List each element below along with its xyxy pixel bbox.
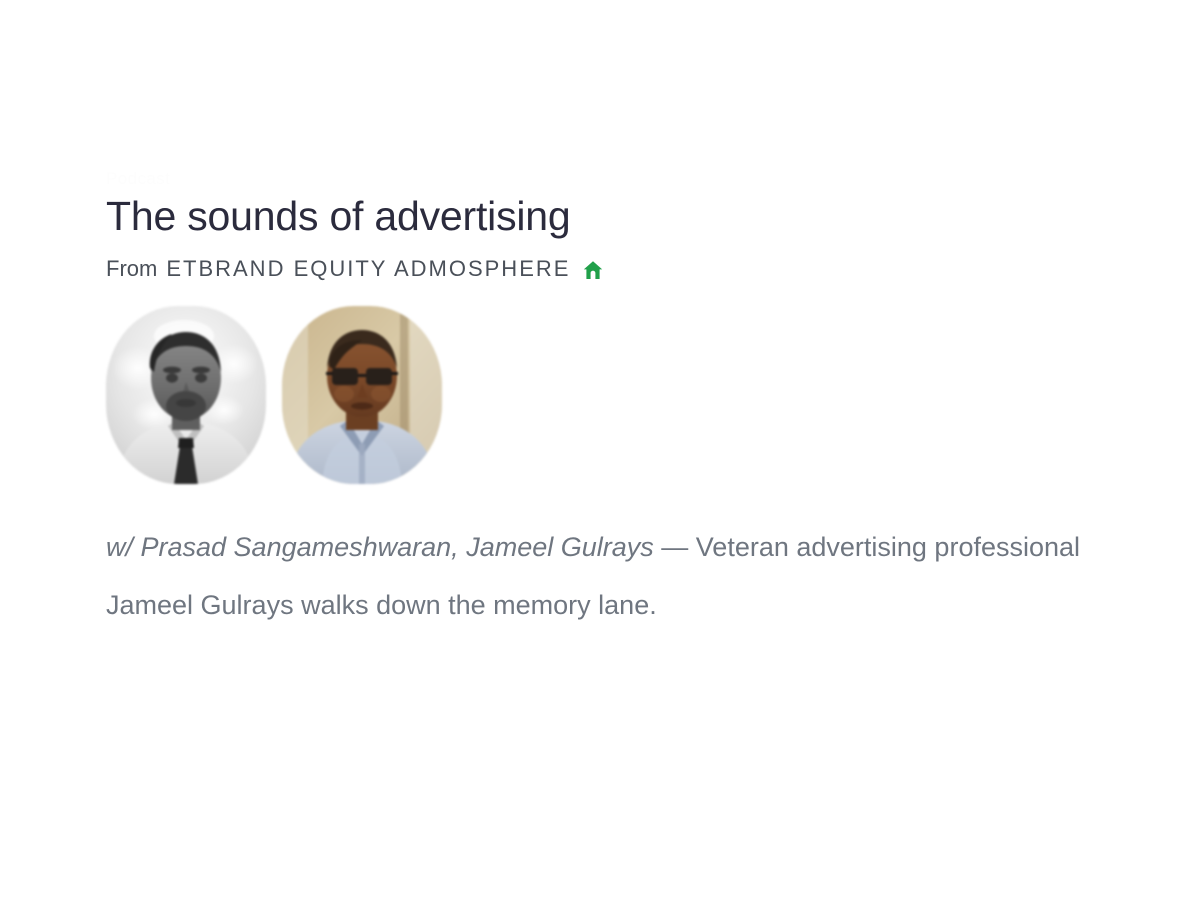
episode-source: From ETBRAND EQUITY ADMOSPHERE — [106, 254, 1151, 284]
page-title: The sounds of advertising — [106, 190, 1151, 242]
home-icon — [581, 258, 605, 282]
avatar-prasad-sangameshwaran — [106, 306, 266, 484]
ghost-label: Podcast — [106, 168, 1151, 190]
description-guests: w/ Prasad Sangameshwaran, Jameel Gulrays — [106, 532, 654, 562]
source-name-label[interactable]: ETBRAND EQUITY ADMOSPHERE — [166, 254, 570, 284]
description-dash: — — [654, 532, 696, 562]
source-prefix-label: From — [106, 254, 157, 284]
guest-avatar-row — [106, 306, 1151, 484]
avatar-image-color — [282, 306, 442, 484]
episode-page: Podcast The sounds of advertising From E… — [0, 0, 1200, 900]
avatar-jameel-gulrays — [282, 306, 442, 484]
podcast-episode-card: Podcast The sounds of advertising From E… — [106, 168, 1151, 661]
episode-description: w/ Prasad Sangameshwaran, Jameel Gulrays… — [106, 518, 1146, 634]
avatar-image-grayscale — [106, 306, 266, 484]
